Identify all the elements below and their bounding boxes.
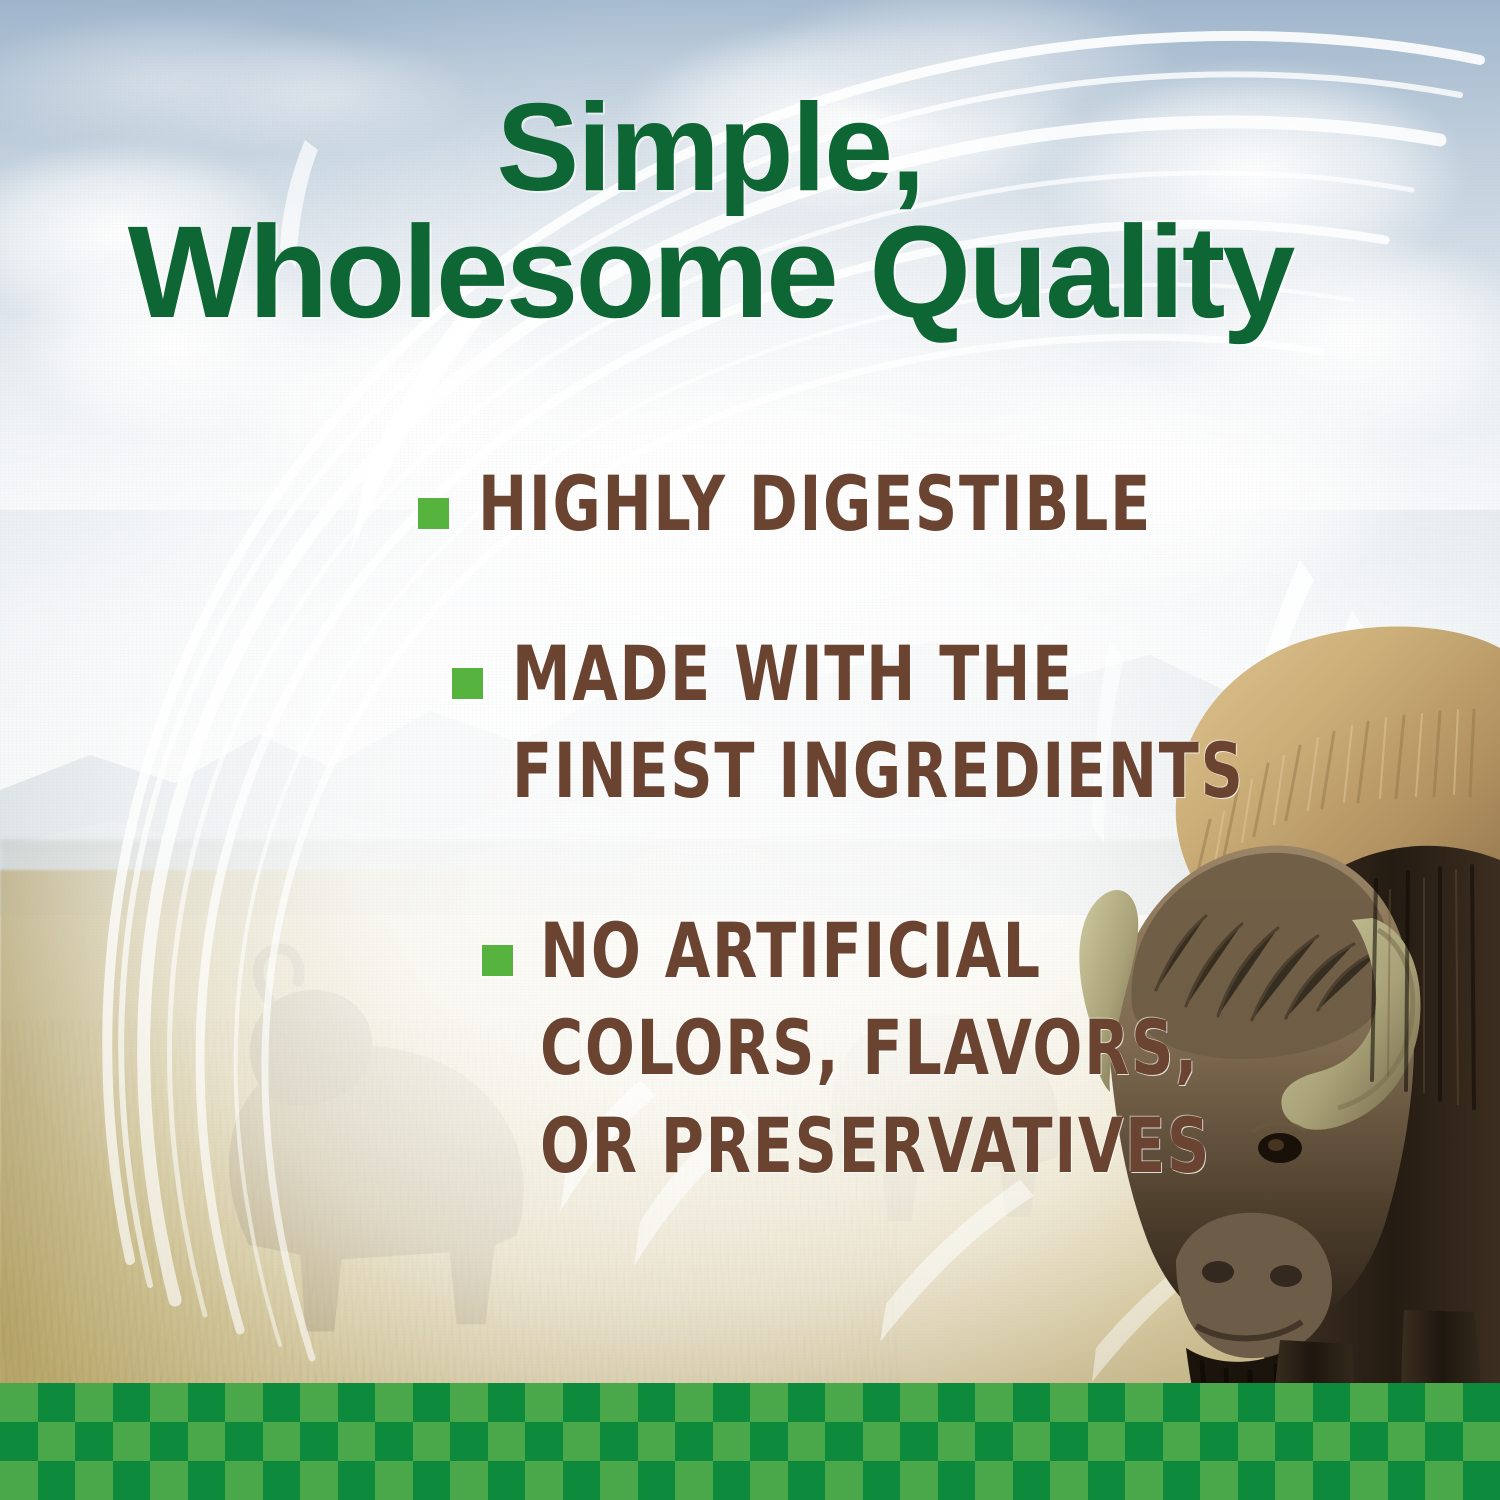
checker-cell [1388, 1461, 1426, 1500]
product-feature-poster: Simple, Wholesome Quality HIGHLY DIGESTI… [0, 0, 1500, 1500]
page-title: Simple, Wholesome Quality [0, 88, 1420, 335]
checker-cell [900, 1383, 938, 1422]
checker-cell [488, 1383, 526, 1422]
checker-cell [975, 1422, 1013, 1461]
checker-cell [1013, 1383, 1051, 1422]
checker-cell [263, 1422, 301, 1461]
checker-cell [338, 1461, 376, 1500]
checker-cell [75, 1383, 113, 1422]
checker-cell [188, 1461, 226, 1500]
checker-cell [525, 1422, 563, 1461]
checker-cell [0, 1461, 38, 1500]
checker-cell [788, 1383, 826, 1422]
checker-cell [1350, 1461, 1388, 1500]
checker-cell [863, 1383, 901, 1422]
checker-cell [1125, 1422, 1163, 1461]
checker-cell [938, 1383, 976, 1422]
checker-cell [750, 1422, 788, 1461]
checker-cell [488, 1422, 526, 1461]
checker-cell [1125, 1461, 1163, 1500]
checkerboard-footer-band [0, 1383, 1500, 1500]
checker-cell [525, 1383, 563, 1422]
checker-cell [675, 1422, 713, 1461]
checker-cell [1388, 1422, 1426, 1461]
checker-cell [113, 1461, 151, 1500]
checker-cell [975, 1383, 1013, 1422]
checker-cell [1425, 1422, 1463, 1461]
checker-cell [1275, 1422, 1313, 1461]
checker-cell [1125, 1383, 1163, 1422]
checker-cell [1238, 1422, 1276, 1461]
checker-cell [600, 1422, 638, 1461]
checker-cell [825, 1422, 863, 1461]
checker-cell [1463, 1461, 1500, 1500]
checker-cell [150, 1422, 188, 1461]
checker-cell [638, 1383, 676, 1422]
checker-cell [1238, 1383, 1276, 1422]
checker-cell [713, 1461, 751, 1500]
checker-row [0, 1461, 1500, 1500]
checker-cell [413, 1461, 451, 1500]
headline-line-1: Simple, [496, 79, 923, 217]
checker-cell [713, 1422, 751, 1461]
checker-cell [788, 1422, 826, 1461]
checker-cell [338, 1422, 376, 1461]
bullet-text: HIGHLY DIGESTIBLE [478, 455, 1152, 552]
checker-cell [1050, 1383, 1088, 1422]
checker-cell [1088, 1422, 1126, 1461]
checker-cell [825, 1383, 863, 1422]
green-square-bullet-icon [418, 498, 449, 529]
green-square-bullet-icon [452, 668, 483, 699]
checker-row [0, 1422, 1500, 1461]
checker-cell [863, 1461, 901, 1500]
checker-cell [900, 1422, 938, 1461]
checker-cell [938, 1461, 976, 1500]
checker-cell [38, 1461, 76, 1500]
checker-cell [900, 1461, 938, 1500]
checker-cell [675, 1383, 713, 1422]
checker-cell [1350, 1383, 1388, 1422]
checker-cell [1388, 1383, 1426, 1422]
checker-cell [1200, 1422, 1238, 1461]
checker-cell [638, 1461, 676, 1500]
checker-cell [1163, 1422, 1201, 1461]
checker-cell [150, 1461, 188, 1500]
checker-cell [1088, 1383, 1126, 1422]
bison-nostril [1270, 1265, 1302, 1287]
checker-cell [0, 1422, 38, 1461]
checker-cell [263, 1461, 301, 1500]
checker-cell [1088, 1461, 1126, 1500]
checker-cell [1275, 1383, 1313, 1422]
checker-cell [150, 1383, 188, 1422]
checker-cell [450, 1461, 488, 1500]
checker-cell [1463, 1383, 1500, 1422]
checker-cell [1200, 1383, 1238, 1422]
checker-cell [300, 1461, 338, 1500]
checker-cell [413, 1422, 451, 1461]
checker-cell [563, 1422, 601, 1461]
checker-cell [863, 1422, 901, 1461]
checker-cell [75, 1422, 113, 1461]
checker-cell [75, 1461, 113, 1500]
checker-cell [113, 1422, 151, 1461]
checker-cell [1313, 1461, 1351, 1500]
checker-cell [1050, 1422, 1088, 1461]
checker-cell [713, 1383, 751, 1422]
checker-cell [1238, 1461, 1276, 1500]
checker-cell [1200, 1461, 1238, 1500]
checker-cell [188, 1422, 226, 1461]
checker-cell [1313, 1422, 1351, 1461]
checker-cell [225, 1422, 263, 1461]
bullet-text: MADE WITH THE FINEST INGREDIENTS [512, 625, 1245, 820]
checker-cell [1163, 1461, 1201, 1500]
checker-cell [1275, 1461, 1313, 1500]
checker-cell [563, 1383, 601, 1422]
checker-cell [1313, 1383, 1351, 1422]
checker-cell [225, 1383, 263, 1422]
checker-cell [788, 1461, 826, 1500]
checker-cell [300, 1422, 338, 1461]
checker-cell [1425, 1383, 1463, 1422]
checker-cell [750, 1461, 788, 1500]
checker-cell [375, 1383, 413, 1422]
checker-cell [188, 1383, 226, 1422]
checker-cell [1425, 1461, 1463, 1500]
headline-line-2: Wholesome Quality [0, 208, 1420, 335]
checker-cell [338, 1383, 376, 1422]
checker-cell [263, 1383, 301, 1422]
checker-cell [638, 1422, 676, 1461]
checker-cell [450, 1422, 488, 1461]
green-square-bullet-icon [482, 945, 513, 976]
bison-nostril [1202, 1261, 1234, 1283]
checker-cell [975, 1461, 1013, 1500]
checker-cell [1013, 1422, 1051, 1461]
bullet-text: NO ARTIFICIAL COLORS, FLAVORS, OR PRESER… [540, 902, 1211, 1194]
checker-cell [600, 1461, 638, 1500]
checker-cell [1050, 1461, 1088, 1500]
checker-cell [1350, 1422, 1388, 1461]
checker-cell [0, 1383, 38, 1422]
checker-cell [38, 1383, 76, 1422]
checker-cell [525, 1461, 563, 1500]
checker-cell [113, 1383, 151, 1422]
checker-cell [1013, 1461, 1051, 1500]
checker-cell [750, 1383, 788, 1422]
checker-cell [1163, 1383, 1201, 1422]
checker-cell [675, 1461, 713, 1500]
checker-cell [450, 1383, 488, 1422]
checker-cell [225, 1461, 263, 1500]
checker-cell [600, 1383, 638, 1422]
checker-cell [375, 1422, 413, 1461]
checker-cell [563, 1461, 601, 1500]
checker-cell [938, 1422, 976, 1461]
checker-cell [375, 1461, 413, 1500]
checker-cell [38, 1422, 76, 1461]
checker-row [0, 1383, 1500, 1422]
checker-cell [488, 1461, 526, 1500]
checker-cell [300, 1383, 338, 1422]
checker-cell [825, 1461, 863, 1500]
checker-cell [413, 1383, 451, 1422]
checker-cell [1463, 1422, 1500, 1461]
